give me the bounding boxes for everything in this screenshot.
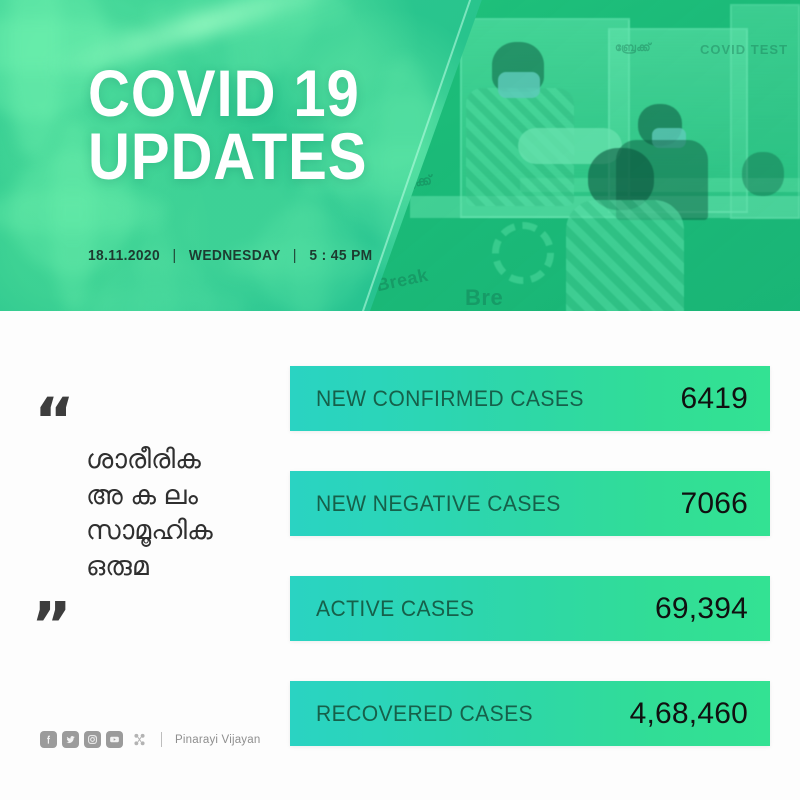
quote-line: സാമൂഹിക — [86, 513, 274, 549]
title-line-2: UPDATES — [88, 125, 367, 188]
stat-label: ACTIVE CASES — [316, 596, 474, 622]
footer-divider — [161, 732, 162, 747]
quote-close-mark: “ — [34, 579, 246, 613]
stat-label: RECOVERED CASES — [316, 701, 533, 727]
quote-line: ശാരീരിക — [86, 442, 274, 478]
separator: | — [164, 247, 185, 264]
stat-value: 69,394 — [655, 592, 748, 626]
day-text: WEDNESDAY — [189, 247, 281, 264]
quote-block: “ ശാരീരിക അ ക ലം സാമൂഹിക ഒരുമ “ — [34, 404, 274, 613]
footer-bar: Pinarayi Vijayan — [40, 731, 260, 748]
instagram-icon[interactable] — [84, 731, 101, 748]
quote-line: അ ക ലം — [86, 478, 274, 514]
stat-value: 4,68,460 — [630, 697, 748, 731]
page-title: COVID 19 UPDATES — [88, 62, 367, 189]
date-text: 18.11.2020 — [88, 247, 160, 264]
photo-green-tint-overlay — [370, 0, 800, 311]
facebook-icon[interactable] — [40, 731, 57, 748]
quote-text: ശാരീരിക അ ക ലം സാമൂഹിക ഒരുമ — [86, 442, 274, 585]
stat-row: NEW CONFIRMED CASES 6419 — [290, 366, 770, 431]
date-time-bar: 18.11.2020 | WEDNESDAY | 5 : 45 PM — [88, 247, 373, 264]
statistics-list: NEW CONFIRMED CASES 6419 NEW NEGATIVE CA… — [290, 366, 770, 746]
quote-open-mark: “ — [34, 404, 274, 438]
brand-mark-icon[interactable] — [132, 732, 147, 747]
stat-label: NEW CONFIRMED CASES — [316, 386, 584, 412]
stat-row: RECOVERED CASES 4,68,460 — [290, 681, 770, 746]
separator: | — [285, 247, 306, 264]
time-text: 5 : 45 PM — [309, 247, 372, 264]
stat-row: ACTIVE CASES 69,394 — [290, 576, 770, 641]
twitter-icon[interactable] — [62, 731, 79, 748]
youtube-icon[interactable] — [106, 731, 123, 748]
stat-label: NEW NEGATIVE CASES — [316, 491, 561, 517]
byline-text: Pinarayi Vijayan — [175, 734, 260, 746]
covid-test-booth-photo: ബ്രേക്ക് Break Bre ബ്രേക്ക് COVID TEST — [370, 0, 800, 311]
header-banner: ബ്രേക്ക് Break Bre ബ്രേക്ക് COVID TEST C… — [0, 0, 800, 311]
stat-value: 7066 — [680, 487, 748, 521]
covid-update-poster: ബ്രേക്ക് Break Bre ബ്രേക്ക് COVID TEST C… — [0, 0, 800, 800]
stat-row: NEW NEGATIVE CASES 7066 — [290, 471, 770, 536]
stat-value: 6419 — [680, 382, 748, 416]
